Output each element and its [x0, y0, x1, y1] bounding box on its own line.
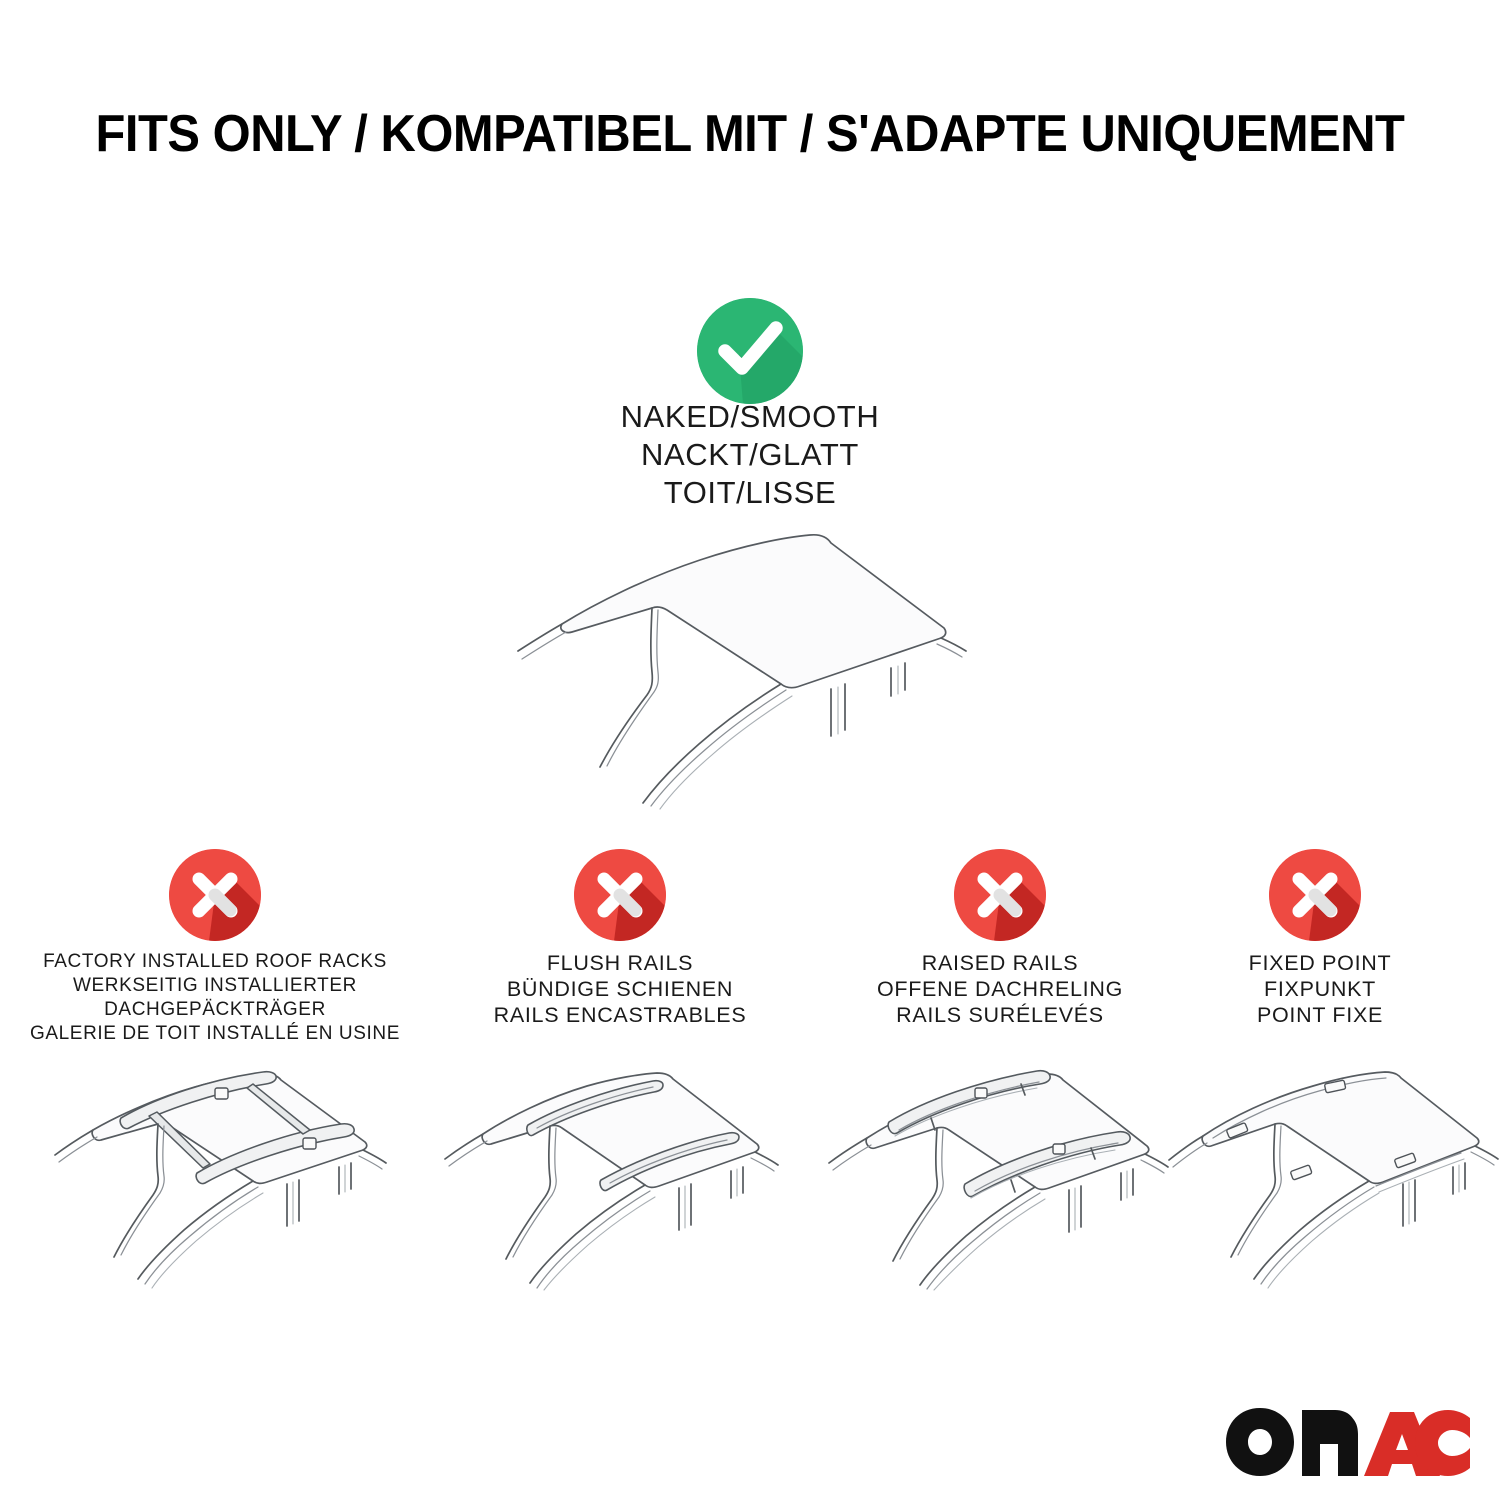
caption-line: GALERIE DE TOIT INSTALLÉ EN USINE [5, 1022, 425, 1046]
caption-line: FIXED POINT [1140, 950, 1500, 976]
caption-line: RAILS ENCASTRABLES [420, 1002, 820, 1028]
factory-rack-caption: FACTORY INSTALLED ROOF RACKS WERKSEITIG … [5, 950, 425, 1046]
caption-line: DACHGEPÄCKTRÄGER [5, 998, 425, 1022]
caption-line: BÜNDIGE SCHIENEN [420, 976, 820, 1002]
naked-smooth-roof-illustration [500, 520, 1000, 810]
caption-line: WERKSEITIG INSTALLIERTER [5, 974, 425, 998]
x-circle-icon [169, 849, 261, 941]
flush-rails-caption: FLUSH RAILS BÜNDIGE SCHIENEN RAILS ENCAS… [420, 950, 820, 1028]
caption-line: NACKT/GLATT [450, 436, 1050, 474]
fixed-point-roof-illustration [1165, 1060, 1500, 1290]
raised-rails-roof-illustration [815, 1060, 1195, 1290]
logo-letter-m-notch [1320, 1444, 1338, 1476]
compatible-caption: NAKED/SMOOTH NACKT/GLATT TOIT/LISSE [450, 398, 1050, 512]
caption-line: POINT FIXE [1140, 1002, 1500, 1028]
caption-line: FIXPUNKT [1140, 976, 1500, 1002]
infographic-page: FITS ONLY / KOMPATIBEL MIT / S'ADAPTE UN… [0, 0, 1500, 1500]
fixed-point-caption: FIXED POINT FIXPUNKT POINT FIXE [1140, 950, 1500, 1028]
omac-logo [1222, 1404, 1472, 1480]
caption-line: FACTORY INSTALLED ROOF RACKS [5, 950, 425, 974]
x-circle-icon [954, 849, 1046, 941]
logo-letter-o [1226, 1408, 1294, 1476]
caption-line: TOIT/LISSE [450, 474, 1050, 512]
check-circle-icon [697, 298, 803, 404]
caption-line: NAKED/SMOOTH [450, 398, 1050, 436]
caption-line: FLUSH RAILS [420, 950, 820, 976]
x-circle-icon [1269, 849, 1361, 941]
page-title: FITS ONLY / KOMPATIBEL MIT / S'ADAPTE UN… [45, 104, 1455, 164]
factory-roof-rack-illustration [35, 1060, 415, 1290]
flush-rails-roof-illustration [425, 1060, 805, 1290]
x-circle-icon [574, 849, 666, 941]
